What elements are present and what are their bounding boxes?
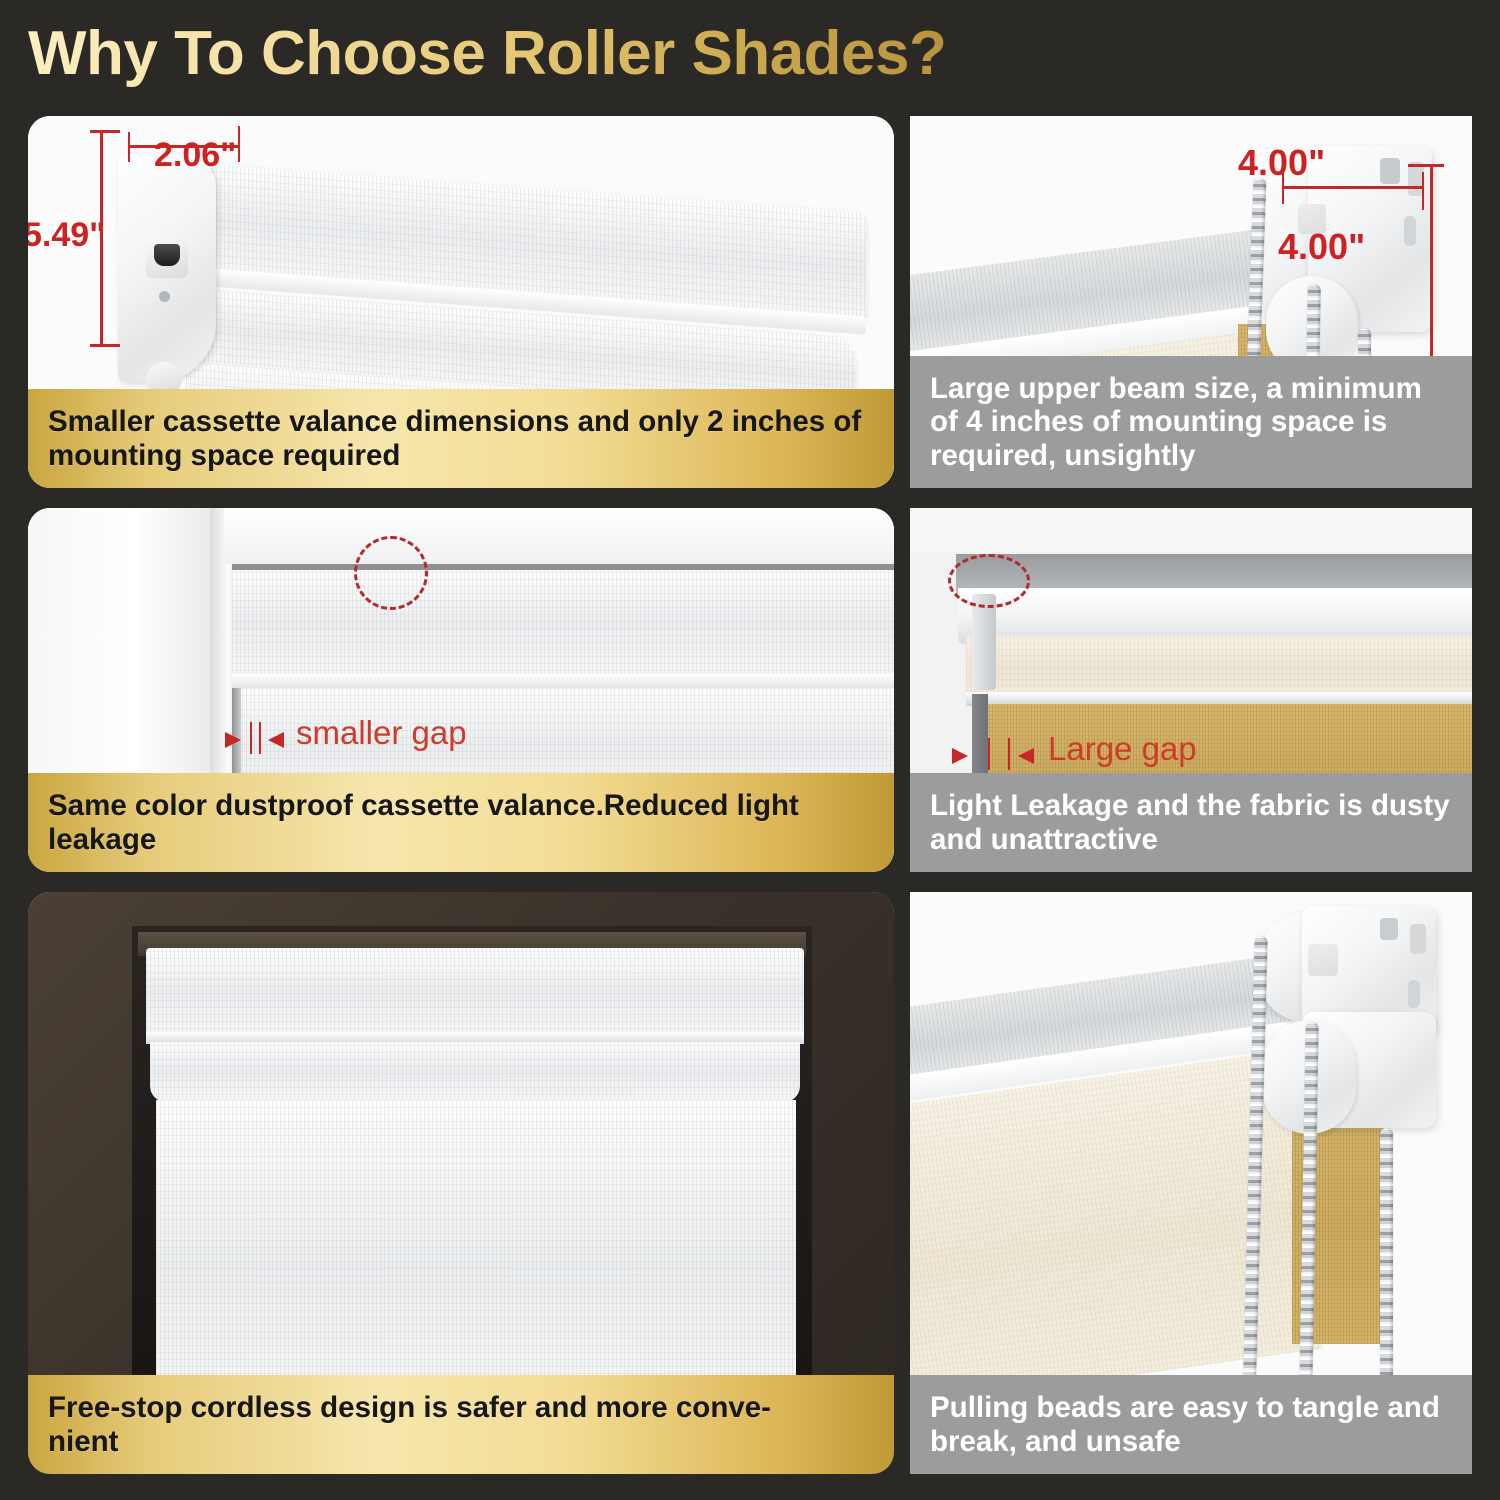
window-frame-top bbox=[224, 508, 894, 564]
panel-5-caption-line-2: nient bbox=[48, 1425, 876, 1458]
panel-3-caption: Same color dustproof cassette valance.Re… bbox=[28, 773, 894, 872]
bracket-notch-1 bbox=[1380, 158, 1400, 184]
panel-light-leakage: Large gap Light Leakage and the fabric i… bbox=[910, 508, 1472, 872]
width-dim-tick-right bbox=[238, 126, 240, 162]
panel-6-caption: Pulling beads are easy to tangle and bre… bbox=[910, 1375, 1472, 1474]
beam-height-tick-top bbox=[1408, 164, 1444, 167]
height-dim-label: 5.49" bbox=[28, 216, 105, 255]
panel-smaller-cassette: 2.06" 5.49" Smaller cassette valance dim… bbox=[28, 116, 894, 488]
bracket-notch-2 bbox=[1410, 924, 1426, 954]
bracket-notch-3 bbox=[1408, 980, 1420, 1008]
panel-2-caption: Large upper beam size, a minimum of 4 in… bbox=[910, 356, 1472, 488]
panel-dustproof-valance: smaller gap Same color dustproof cassett… bbox=[28, 508, 894, 872]
gap-edge-tick-1 bbox=[988, 738, 990, 770]
headrail-face bbox=[146, 948, 804, 1036]
panel-large-beam: 4.00" 4.00" Large upper beam size, a min… bbox=[910, 116, 1472, 488]
highlight-circle-icon bbox=[354, 536, 428, 610]
bracket-slot-opening bbox=[154, 244, 180, 266]
fabric-cream-band bbox=[966, 636, 1472, 698]
window-frame-left bbox=[28, 508, 218, 808]
gap-arrow-left-icon bbox=[225, 732, 241, 748]
gap-arrow-right-icon bbox=[1018, 748, 1034, 764]
panel-5-caption-line-1: Free-stop cordless design is safer and m… bbox=[48, 1391, 876, 1424]
gap-arrow-right-icon bbox=[268, 732, 284, 748]
panel-pulling-beads: Pulling beads are easy to tangle and bre… bbox=[910, 892, 1472, 1474]
width-dim-tick-left bbox=[128, 132, 130, 162]
panel-1-caption: Smaller cassette valance dimensions and … bbox=[28, 389, 894, 488]
height-dim-tick-bottom bbox=[90, 344, 120, 347]
beam-width-tick-right bbox=[1422, 172, 1424, 210]
gap-edge-tick-2 bbox=[1008, 738, 1010, 770]
panel-cordless-design: Free-stop cordless design is safer and m… bbox=[28, 892, 894, 1474]
page-title: Why To Choose Roller Shades? bbox=[28, 18, 946, 89]
highlight-circle-icon bbox=[948, 554, 1030, 608]
height-dim-tick-top bbox=[90, 130, 120, 133]
beam-width-dim-line bbox=[1282, 186, 1424, 189]
gap-edge-tick-2 bbox=[259, 722, 261, 754]
smaller-gap-label: smaller gap bbox=[296, 714, 467, 752]
headrail-roll bbox=[150, 1042, 800, 1102]
width-dim-label: 2.06" bbox=[154, 136, 236, 175]
exposed-bracket bbox=[972, 594, 996, 690]
valance-face bbox=[232, 570, 894, 678]
bracket-screw bbox=[159, 291, 170, 302]
bracket-emblem-top bbox=[1308, 944, 1338, 976]
panel-4-caption: Light Leakage and the fabric is dusty an… bbox=[910, 773, 1472, 872]
wall-top bbox=[910, 508, 1472, 552]
beam-width-dim-label: 4.00" bbox=[1238, 142, 1325, 184]
infographic-page: Why To Choose Roller Shades? 2.06" bbox=[0, 0, 1500, 1500]
beam-height-dim-label: 4.00" bbox=[1278, 226, 1365, 268]
bracket-notch-1 bbox=[1380, 918, 1398, 940]
gap-edge-tick-1 bbox=[250, 722, 252, 754]
panel-5-caption: Free-stop cordless design is safer and m… bbox=[28, 1375, 894, 1474]
large-gap-label: Large gap bbox=[1048, 730, 1197, 768]
gap-arrow-left-icon bbox=[952, 748, 968, 764]
bracket-notch-3 bbox=[1404, 216, 1416, 246]
valance-lip bbox=[232, 674, 894, 688]
